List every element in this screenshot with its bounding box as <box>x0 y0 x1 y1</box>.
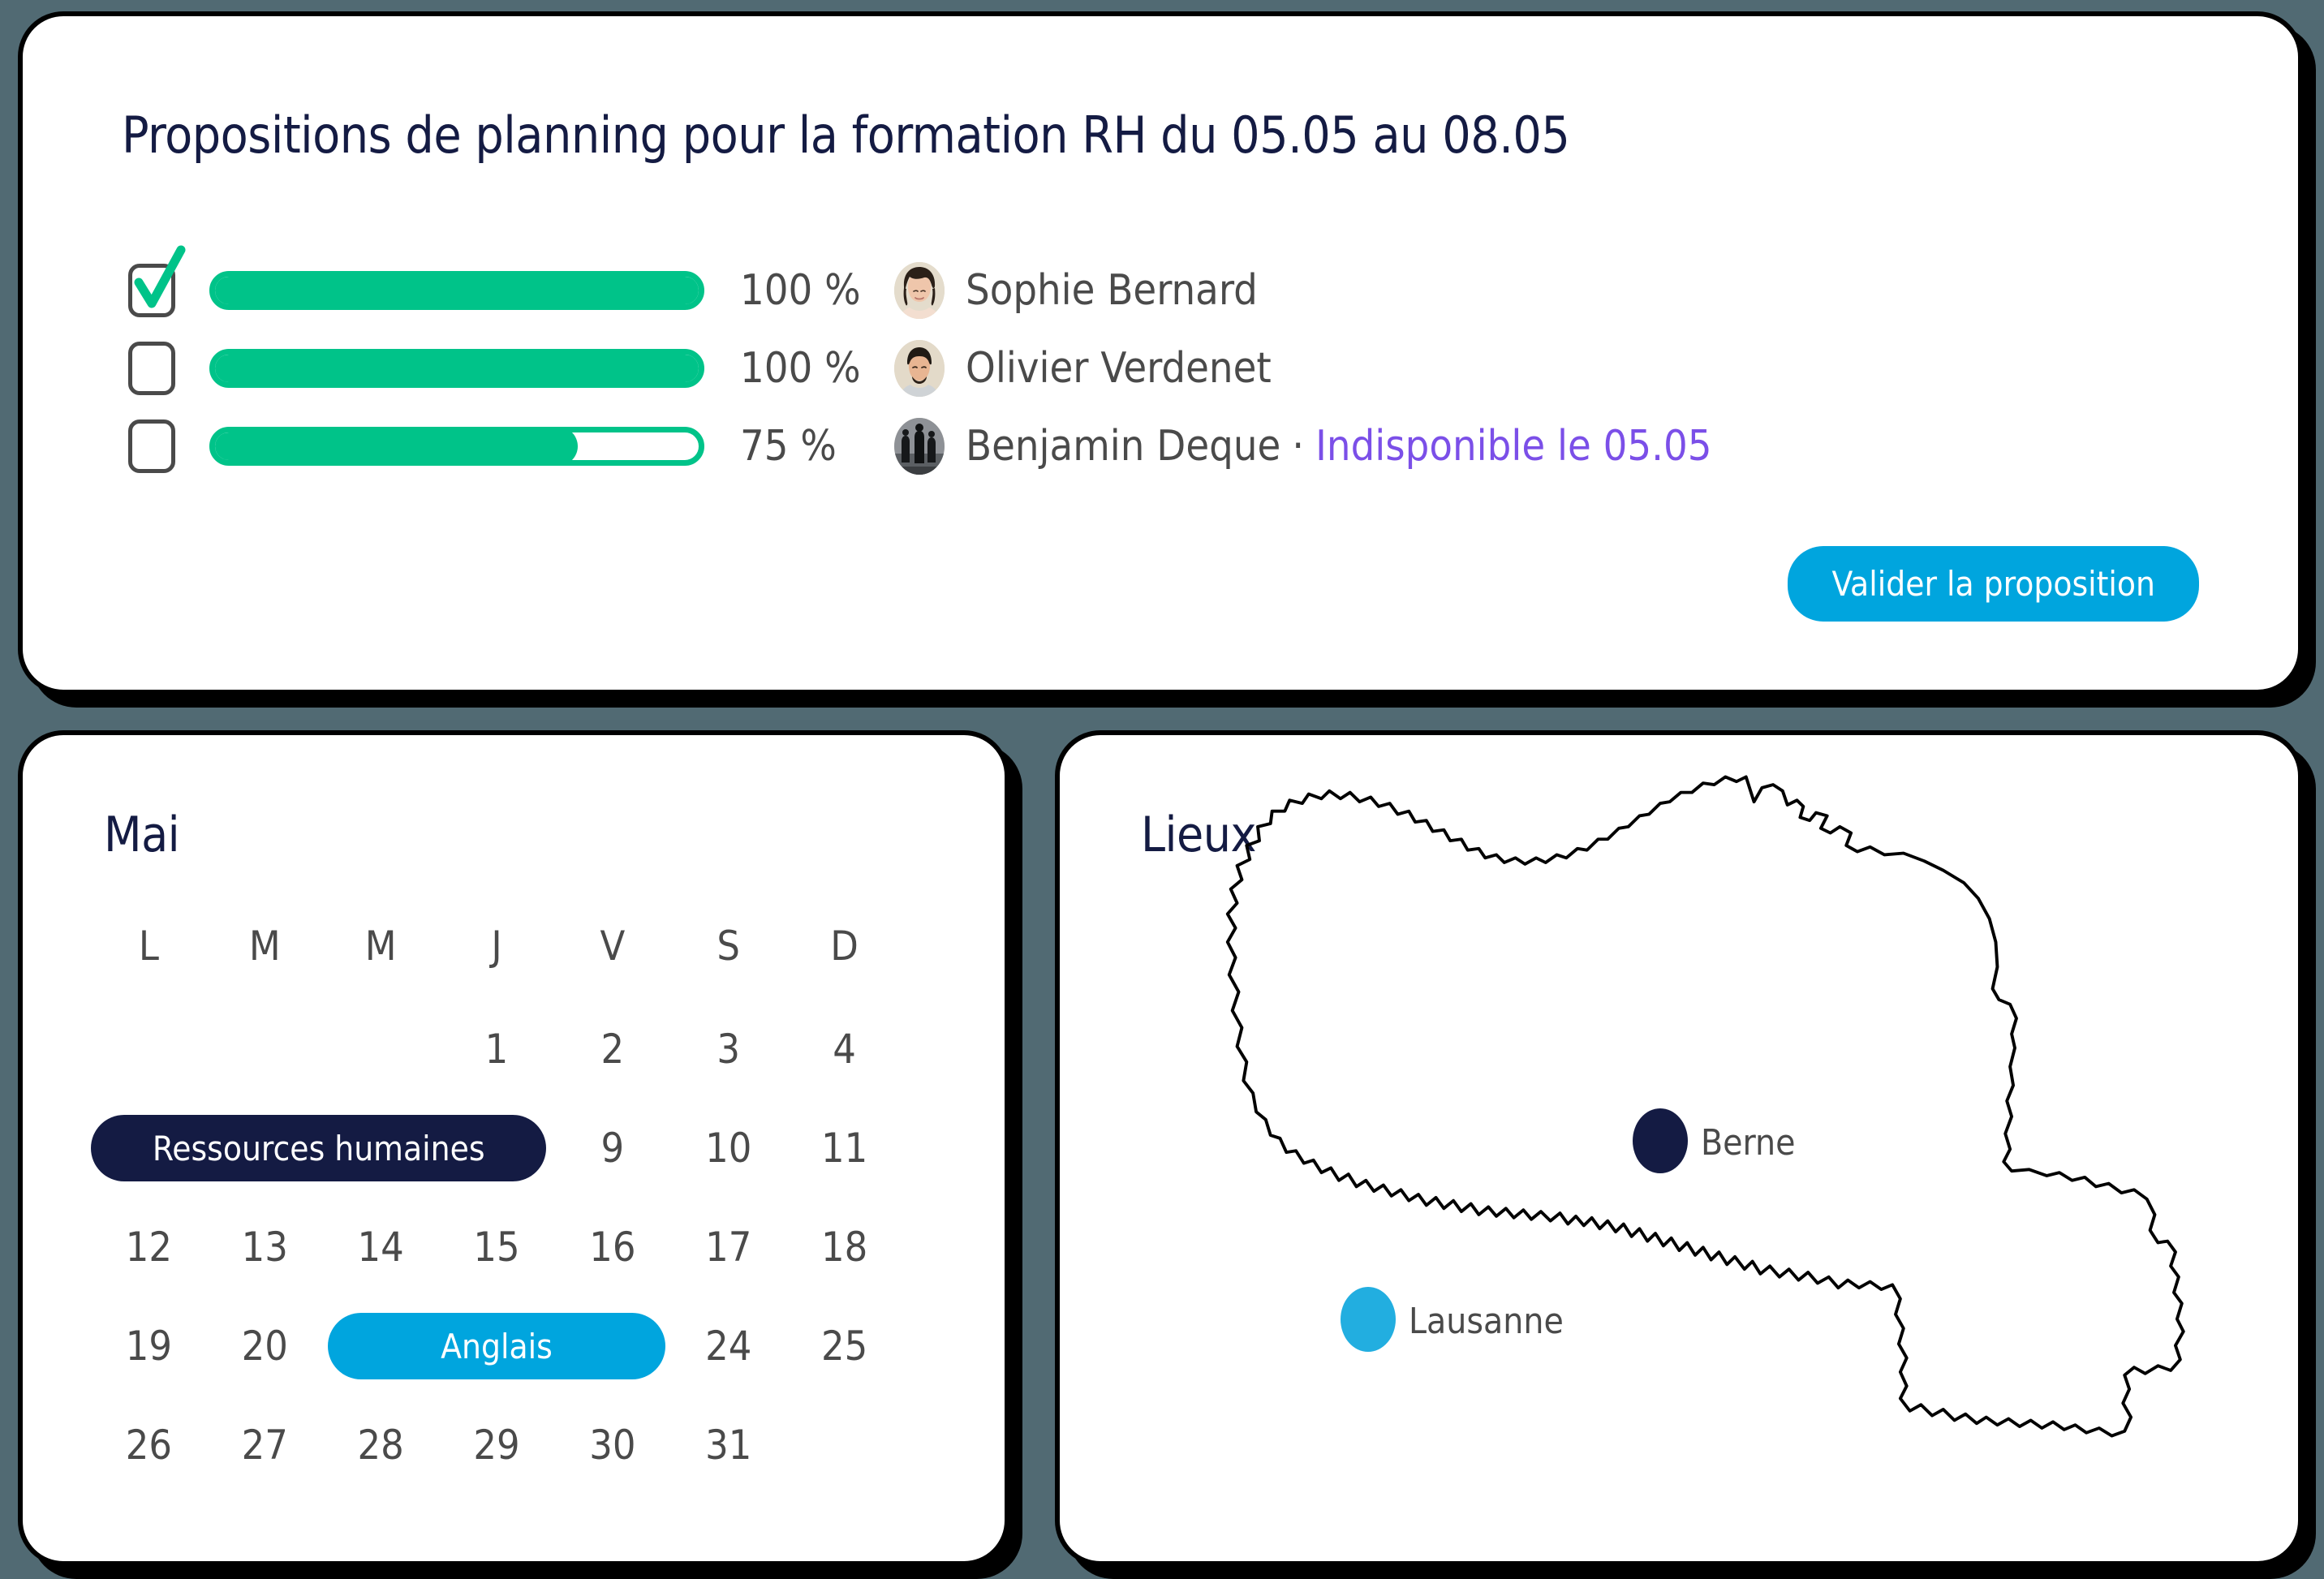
day-cell[interactable]: 4 <box>786 1029 902 1069</box>
day-cell[interactable]: 26 <box>91 1425 207 1465</box>
marker-dot-lausanne[interactable] <box>1341 1287 1396 1352</box>
switzerland-map: Berne Lausanne <box>1092 759 2261 1538</box>
weekday-label: V <box>554 923 670 970</box>
day-cell[interactable]: 9 <box>554 1128 670 1168</box>
calendar-week-row: 1 2 3 4 <box>91 1000 902 1099</box>
day-cell[interactable]: 12 <box>91 1227 207 1267</box>
calendar-weekday-header: L M M J V S D <box>91 907 902 985</box>
map-marker-lausanne[interactable]: Lausanne <box>1341 1287 1564 1352</box>
calendar-week-row: 19 20 24 25 Anglais <box>91 1297 902 1396</box>
calendar-week-row: 26 27 28 29 30 31 <box>91 1396 902 1495</box>
availability-bar <box>209 427 704 466</box>
day-cell[interactable]: 29 <box>439 1425 555 1465</box>
weekday-label: L <box>91 923 207 970</box>
calendar-event-ressources-humaines[interactable]: Ressources humaines <box>91 1115 546 1181</box>
check-icon <box>131 245 189 316</box>
calendar-card: Mai L M M J V S D 1 2 3 4 <box>18 730 1009 1566</box>
availability-bar-fill <box>209 427 578 466</box>
weekday-label: M <box>323 923 439 970</box>
day-cell[interactable]: 16 <box>554 1227 670 1267</box>
day-cell[interactable]: 24 <box>670 1326 786 1366</box>
marker-label-berne: Berne <box>1701 1122 1795 1164</box>
avatar-benjamin-icon <box>894 418 945 475</box>
day-cell[interactable]: 15 <box>439 1227 555 1267</box>
status-badge: Indisponible le 05.05 <box>1315 422 1711 471</box>
participant-name: Sophie Bernard <box>966 266 1258 315</box>
proposals-card: Propositions de planning pour la formati… <box>18 11 2303 695</box>
availability-percent: 75 % <box>740 422 894 471</box>
participant-name: Benjamin Deque <box>966 422 1280 471</box>
calendar-event-anglais[interactable]: Anglais <box>328 1313 666 1379</box>
availability-bar-fill <box>209 349 704 388</box>
day-cell[interactable]: 17 <box>670 1227 786 1267</box>
proposal-checkbox[interactable] <box>128 342 175 395</box>
validate-proposal-button[interactable]: Valider la proposition <box>1788 546 2199 622</box>
day-cell[interactable]: 3 <box>670 1029 786 1069</box>
avatar-sophie-icon <box>894 262 945 319</box>
day-cell[interactable]: 25 <box>786 1326 902 1366</box>
participant-name: Olivier Verdenet <box>966 344 1272 393</box>
avatar-olivier-icon <box>894 340 945 397</box>
availability-bar <box>209 349 704 388</box>
calendar-month-title: Mai <box>104 807 179 863</box>
proposal-row[interactable]: 100 % Olivier Verdenet <box>128 329 1712 407</box>
availability-bar-fill <box>209 271 704 310</box>
availability-percent: 100 % <box>740 344 894 393</box>
day-cell[interactable]: 11 <box>786 1128 902 1168</box>
proposal-row[interactable]: 75 % Benjamin Deque · <box>128 407 1712 485</box>
switzerland-map-svg: Berne Lausanne <box>1092 759 2261 1538</box>
day-cell[interactable]: 30 <box>554 1425 670 1465</box>
day-cell[interactable]: 31 <box>670 1425 786 1465</box>
day-cell[interactable]: 18 <box>786 1227 902 1267</box>
map-marker-berne[interactable]: Berne <box>1633 1108 1795 1173</box>
weekday-label: M <box>207 923 323 970</box>
avatar <box>894 340 945 397</box>
weekday-label: D <box>786 923 902 970</box>
avatar <box>894 262 945 319</box>
locations-card: Lieux Berne Lausanne <box>1055 730 2303 1566</box>
proposal-list: 100 % Sophie Bernard <box>128 252 1712 485</box>
marker-label-lausanne: Lausanne <box>1409 1301 1564 1342</box>
day-cell[interactable]: 13 <box>207 1227 323 1267</box>
day-cell[interactable]: 2 <box>554 1029 670 1069</box>
weekday-label: S <box>670 923 786 970</box>
day-cell[interactable]: 19 <box>91 1326 207 1366</box>
proposal-checkbox[interactable] <box>128 419 175 473</box>
availability-bar <box>209 271 704 310</box>
day-cell[interactable]: 10 <box>670 1128 786 1168</box>
proposal-row[interactable]: 100 % Sophie Bernard <box>128 252 1712 329</box>
app-root: Propositions de planning pour la formati… <box>0 0 2324 1579</box>
day-cell[interactable]: 27 <box>207 1425 323 1465</box>
proposal-checkbox[interactable] <box>128 264 175 317</box>
day-cell[interactable]: 28 <box>323 1425 439 1465</box>
marker-dot-berne[interactable] <box>1633 1108 1688 1173</box>
page-title: Propositions de planning pour la formati… <box>122 105 1569 165</box>
calendar-grid: L M M J V S D 1 2 3 4 <box>91 907 902 1495</box>
calendar-week-row: 9 10 11 Ressources humaines <box>91 1099 902 1198</box>
day-cell[interactable]: 20 <box>207 1326 323 1366</box>
avatar <box>894 418 945 475</box>
day-cell[interactable]: 14 <box>323 1227 439 1267</box>
calendar-week-row: 12 13 14 15 16 17 18 <box>91 1198 902 1297</box>
name-note-separator: · <box>1292 422 1304 471</box>
day-cell[interactable]: 1 <box>439 1029 555 1069</box>
weekday-label: J <box>439 923 555 970</box>
availability-percent: 100 % <box>740 266 894 315</box>
